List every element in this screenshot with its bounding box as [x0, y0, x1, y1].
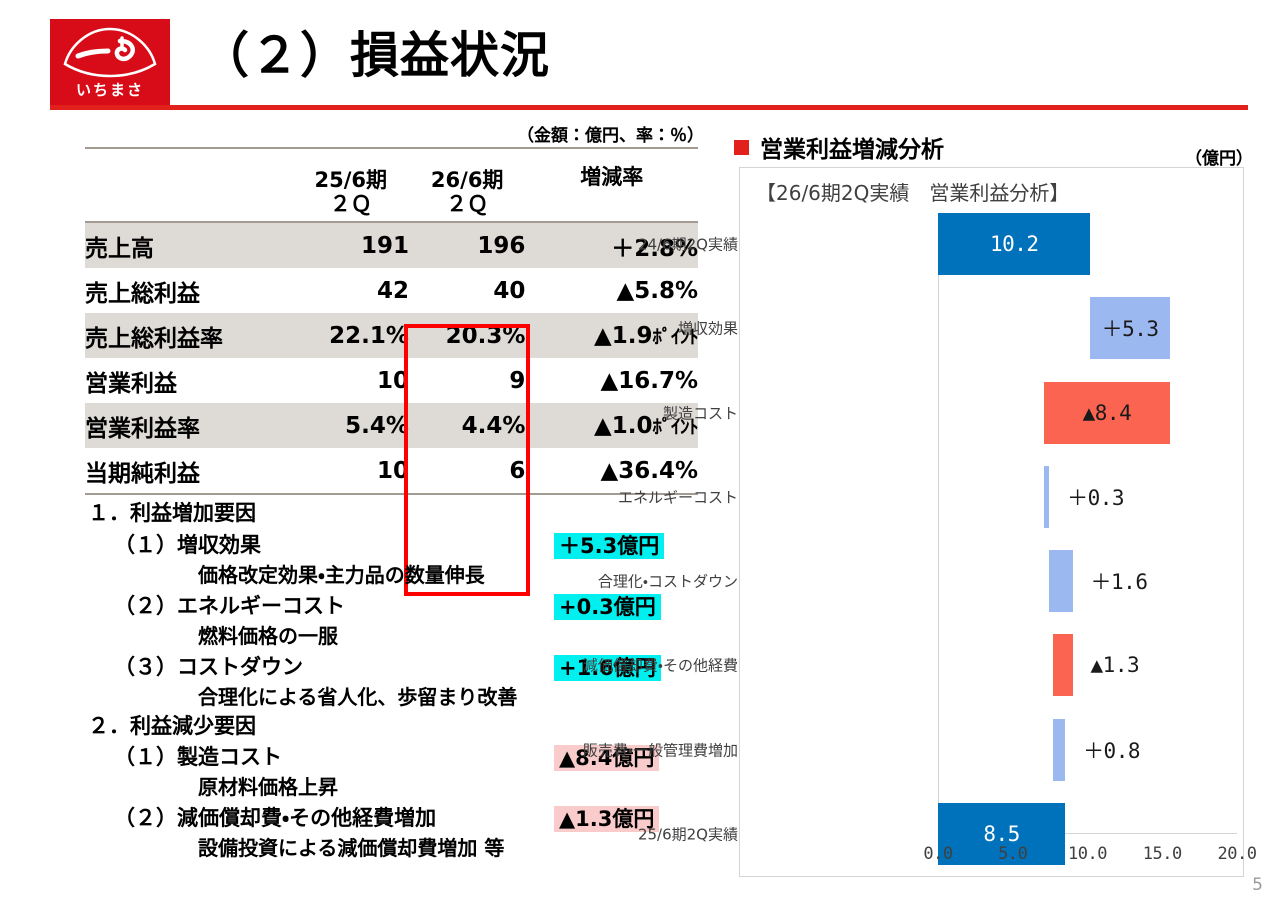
row-label: 売上総利益率: [85, 313, 293, 358]
chart-x-tick-label: 10.0: [1068, 844, 1107, 864]
factor-item: （１）増収効果 ＋5.3億円: [88, 530, 708, 561]
factor-label: （２）エネルギーコスト: [114, 591, 345, 622]
factor-description: 原材料価格上昇: [198, 773, 708, 802]
table-body: 売上高 191 196 ＋2.8% 売上総利益 42 40 ▲5.8% 売上総利…: [85, 222, 698, 494]
profit-factors-list: １．利益増加要因 （１）増収効果 ＋5.3億円 価格改定効果・主力品の数量伸長 …: [88, 500, 708, 864]
decrease-factors-heading: ２．利益減少要因: [88, 713, 708, 741]
table-header-row: 25/6期 ２Ｑ 26/6期 ２Ｑ 増減率: [85, 148, 698, 222]
curr-period-quarter: ２Ｑ: [409, 193, 525, 217]
row-change-value: ▲16.7%: [601, 368, 698, 394]
page-number: 5: [1252, 875, 1263, 895]
column-header-change: 増減率: [525, 148, 698, 222]
row-label: 営業利益率: [85, 403, 293, 448]
row-label: 営業利益: [85, 358, 293, 403]
table-unit-note: （金額：億円、率：％）: [517, 121, 704, 146]
row-prev: 191: [293, 222, 409, 268]
page-title: （２）損益状況: [200, 16, 550, 87]
company-logo: いちまさ: [50, 19, 170, 107]
right-panel: 営業利益増減分析 （億円） 【26/6期2Q実績 営業利益分析】 24/6期2Q…: [716, 112, 1280, 905]
row-prev: 22.1%: [293, 313, 409, 358]
row-curr: 196: [409, 222, 525, 268]
factor-description: 燃料価格の一服: [198, 622, 708, 651]
chart-bar: ▲1.3: [1053, 634, 1072, 696]
column-header-metric: [85, 148, 293, 222]
factor-amount: +0.3億円: [554, 594, 661, 620]
chart-category-label: エネルギーコスト: [538, 486, 738, 507]
chart-category-label: 減価償却費・その他経費: [538, 655, 738, 676]
chart-category-label: 合理化・コストダウン: [538, 571, 738, 592]
chart-category-label: 販売費・一般管理費増加: [538, 739, 738, 760]
chart-section-title: 営業利益増減分析: [760, 130, 944, 164]
row-curr: 20.3%: [409, 313, 525, 358]
table-row: 売上総利益 42 40 ▲5.8%: [85, 268, 698, 313]
chart-x-tick-label: 5.0: [998, 844, 1027, 864]
chart-bar: ＋5.3: [1090, 297, 1169, 359]
chart-bar-value: 10.2: [938, 232, 1090, 256]
chart-bar: ＋0.8: [1053, 719, 1065, 781]
chart-x-tick-label: 0.0: [923, 844, 952, 864]
factor-label: （１）増収効果: [114, 530, 261, 561]
chart-unit-note: （億円）: [1185, 144, 1253, 169]
prev-period-year: 25/6期: [293, 169, 409, 193]
chart-bar-value: ＋0.8: [1083, 735, 1140, 765]
row-curr: 6: [409, 448, 525, 494]
chart-value-axis: [938, 226, 939, 834]
chart-bar-value: ▲8.4: [1044, 401, 1170, 425]
factor-label: （１）製造コスト: [114, 742, 282, 773]
chart-bar: ＋1.6: [1049, 550, 1073, 612]
chart-bar-value: ＋5.3: [1090, 313, 1169, 343]
prev-period-quarter: ２Ｑ: [293, 193, 409, 217]
chart-bar-value: ＋0.3: [1067, 482, 1124, 512]
row-change: ▲5.8%: [525, 268, 698, 313]
chart-title: 【26/6期2Q実績 営業利益分析】: [756, 177, 1069, 206]
row-change-value: ▲36.4%: [601, 458, 698, 484]
row-prev: 42: [293, 268, 409, 313]
chart-x-tick-label: 15.0: [1143, 844, 1182, 864]
row-prev: 10: [293, 448, 409, 494]
row-label: 売上総利益: [85, 268, 293, 313]
column-header-curr-period: 26/6期 ２Ｑ: [409, 148, 525, 222]
factor-label: （２）減価償却費・その他経費増加: [114, 803, 436, 834]
row-curr: 40: [409, 268, 525, 313]
red-square-icon: [734, 140, 749, 155]
factor-item: （２）エネルギーコスト +0.3億円: [88, 591, 708, 622]
row-prev: 10: [293, 358, 409, 403]
waterfall-chart: 【26/6期2Q実績 営業利益分析】 24/6期2Q実績10.2増収効果＋5.3…: [739, 167, 1244, 877]
chart-category-label: 24/6期2Q実績: [538, 234, 738, 255]
chart-bar: ＋0.3: [1044, 466, 1049, 528]
chart-bar-value: 8.5: [938, 822, 1065, 846]
chart-category-label: 25/6期2Q実績: [538, 824, 738, 845]
table-row: 営業利益 10 9 ▲16.7%: [85, 358, 698, 403]
logo-wordmark: いちまさ: [76, 79, 144, 100]
slide-header: いちまさ （２）損益状況: [0, 0, 1280, 112]
chart-bar-value: ▲1.3: [1091, 653, 1140, 677]
row-label: 当期純利益: [85, 448, 293, 494]
chart-category-label: 増収効果: [538, 318, 738, 339]
row-change-value: ▲5.8%: [617, 278, 698, 304]
chart-category-label: 製造コスト: [538, 402, 738, 423]
chart-x-tick-label: 20.0: [1218, 844, 1257, 864]
row-curr: 4.4%: [409, 403, 525, 448]
left-panel: （金額：億円、率：％） 25/6期 ２Ｑ 26/6期 ２Ｑ 増減率 売上高 19…: [0, 112, 716, 905]
chart-section-heading: 営業利益増減分析: [734, 130, 944, 164]
chart-bar: 10.2: [938, 213, 1090, 275]
factor-amount: ＋5.3億円: [554, 533, 664, 559]
curr-period-year: 26/6期: [409, 169, 525, 193]
chart-bar: ▲8.4: [1044, 382, 1170, 444]
row-prev: 5.4%: [293, 403, 409, 448]
fan-emblem-icon: [62, 26, 158, 78]
factor-label: （３）コストダウン: [114, 652, 303, 683]
column-header-prev-period: 25/6期 ２Ｑ: [293, 148, 409, 222]
header-divider: [50, 105, 1248, 110]
chart-plot-area: 24/6期2Q実績10.2増収効果＋5.3製造コスト▲8.4エネルギーコスト＋0…: [740, 226, 1245, 878]
table-header: 25/6期 ２Ｑ 26/6期 ２Ｑ 増減率: [85, 148, 698, 222]
row-curr: 9: [409, 358, 525, 403]
row-label: 売上高: [85, 222, 293, 268]
row-change: ▲16.7%: [525, 358, 698, 403]
chart-bar-value: ＋1.6: [1091, 566, 1148, 596]
factor-description: 合理化による省人化、歩留まり改善: [198, 683, 708, 712]
